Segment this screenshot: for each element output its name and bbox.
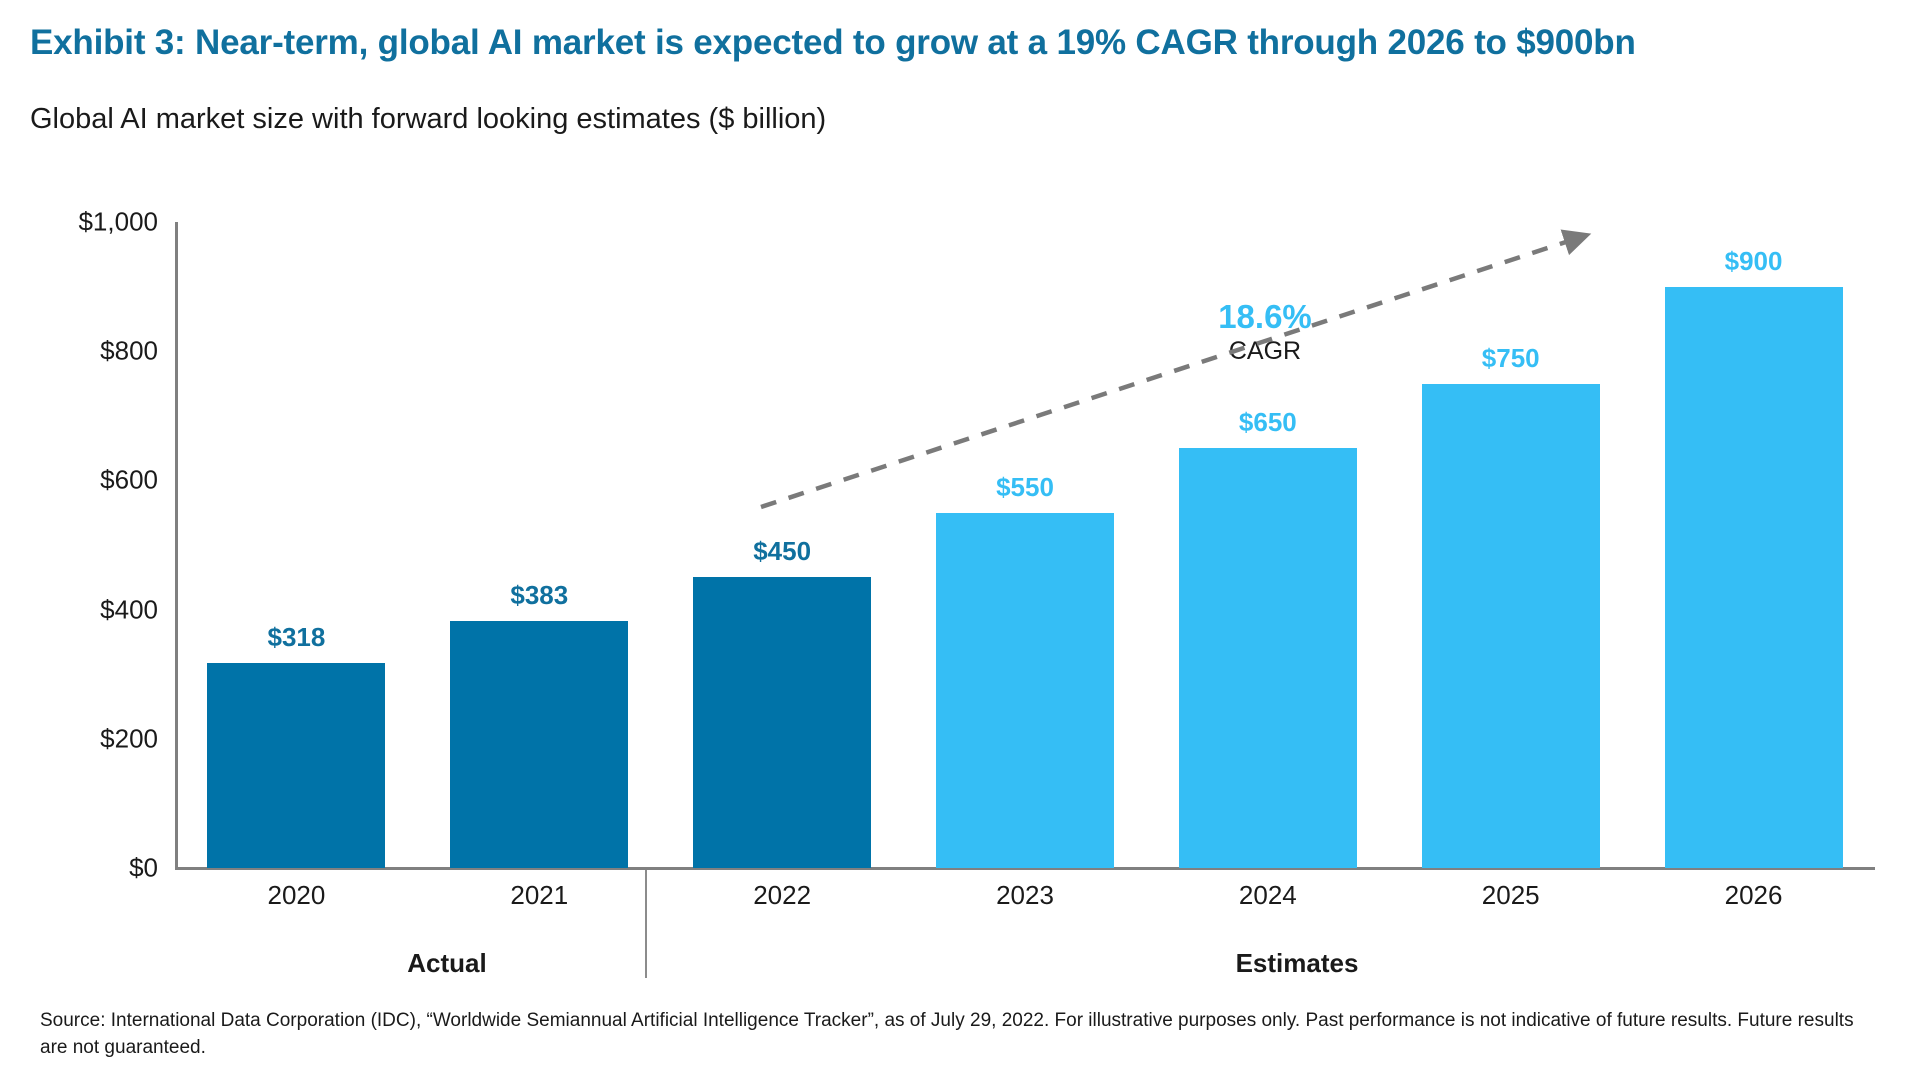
bar-value-label: $900 [1665,246,1843,277]
y-axis-labels: $0$200$400$600$800$1,000 [24,0,158,1080]
bar-value-label: $650 [1179,407,1357,438]
bar-2026[interactable] [1665,287,1843,868]
bar-2024[interactable] [1179,448,1357,868]
bar-value-label: $318 [207,622,385,653]
bar-2025[interactable] [1422,384,1600,869]
bar-group: $318 [207,222,385,868]
segment-band: ActualEstimates [175,870,1875,985]
bar-group: $550 [936,222,1114,868]
bar-group: $750 [1422,222,1600,868]
source-footnote: Source: International Data Corporation (… [40,1008,1885,1062]
y-axis-tick-label: $1,000 [28,207,158,238]
bar-group: $450 [693,222,871,868]
y-axis-tick-label: $0 [28,853,158,884]
chart-plot-area: $318$383$450$550$650$750$900 [175,222,1875,868]
page-title: Exhibit 3: Near-term, global AI market i… [30,23,1636,63]
bar-2022[interactable] [693,577,871,868]
y-axis-tick-label: $800 [28,336,158,367]
cagr-value: 18.6% [1155,300,1375,335]
bar-value-label: $450 [693,536,871,567]
bar-2020[interactable] [207,663,385,868]
bar-group: $383 [450,222,628,868]
bar-group: $900 [1665,222,1843,868]
bar-value-label: $383 [450,580,628,611]
bar-value-label: $750 [1422,343,1600,374]
y-axis-tick-label: $400 [28,594,158,625]
segment-label: Actual [407,948,486,979]
cagr-caption: CAGR [1155,335,1375,368]
bar-2023[interactable] [936,513,1114,868]
bar-value-label: $550 [936,472,1114,503]
y-axis-tick-label: $200 [28,723,158,754]
segment-label: Estimates [1236,948,1359,979]
segment-divider [645,870,647,978]
bar-2021[interactable] [450,621,628,868]
cagr-callout: 18.6% CAGR [1155,300,1375,367]
y-axis-tick-label: $600 [28,465,158,496]
